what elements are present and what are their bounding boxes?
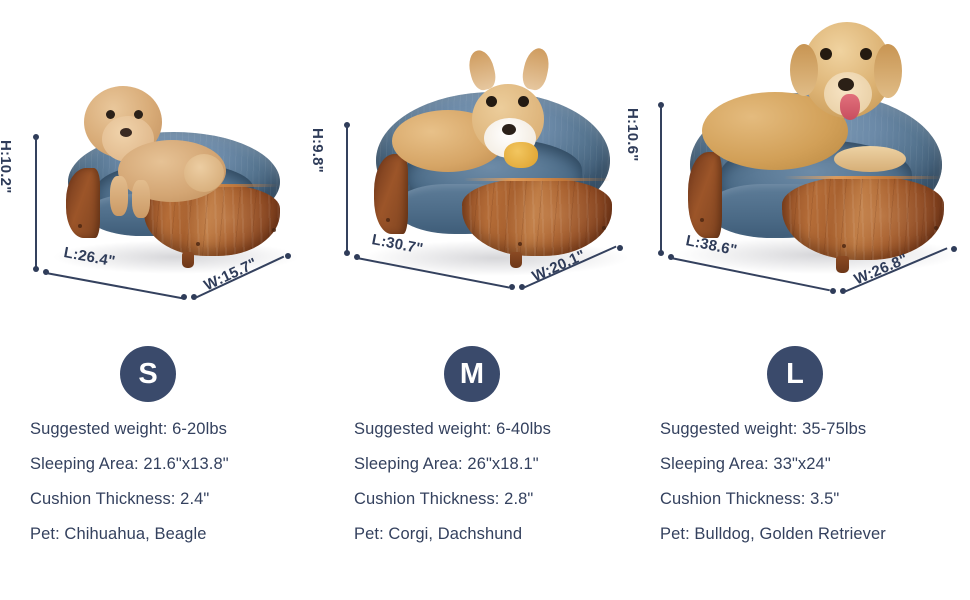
bed-wood-rim-large	[784, 176, 942, 179]
spec-suggested-weight: Suggested weight: 35-75lbs	[660, 420, 886, 439]
dog-nose	[120, 128, 132, 137]
spec-list-large: Suggested weight: 35-75lbs Sleeping Area…	[660, 420, 886, 544]
dog-nose	[502, 124, 516, 135]
spec-suggested-weight: Suggested weight: 6-20lbs	[30, 420, 229, 439]
height-dimension-label-small: H:10.2"	[0, 140, 14, 194]
dog-hindquarters	[184, 154, 224, 192]
bed-wood-side-small	[66, 168, 100, 238]
dog-eye	[106, 110, 115, 119]
dim-endpoint-dot	[33, 266, 39, 272]
dim-endpoint-dot	[509, 284, 515, 290]
height-dimension-label-large: H:10.6"	[624, 108, 641, 162]
bed-wood-side-medium	[374, 154, 408, 234]
dog-ear	[874, 44, 902, 98]
dog-toy	[504, 142, 538, 168]
dim-endpoint-dot	[285, 253, 291, 259]
dog-eye	[518, 96, 529, 107]
size-badge-medium[interactable]: M	[444, 346, 500, 402]
dog-ear	[520, 46, 552, 92]
spec-pet: Pet: Corgi, Dachshund	[354, 525, 551, 544]
height-dimension-line-small	[35, 137, 37, 269]
bed-screw	[272, 228, 276, 232]
spec-sleeping-area: Sleeping Area: 33"x24"	[660, 455, 886, 474]
bed-wood-side-large	[688, 152, 722, 238]
height-dimension-line-large	[660, 105, 662, 253]
dog-nose	[838, 78, 854, 91]
size-badge-label: L	[786, 358, 804, 391]
dog-ear	[790, 44, 818, 96]
spec-list-small: Suggested weight: 6-20lbs Sleeping Area:…	[30, 420, 229, 544]
length-dimension-line-small	[46, 272, 184, 299]
bed-screw	[602, 226, 606, 230]
infographic-canvas: H:10.2" L:26.4" W:15.7" S Suggested weig…	[0, 0, 970, 600]
dim-endpoint-dot	[181, 294, 187, 300]
dim-endpoint-dot	[344, 250, 350, 256]
size-badge-label: M	[460, 358, 484, 391]
spec-cushion-thickness: Cushion Thickness: 2.4"	[30, 490, 229, 509]
spec-pet: Pet: Bulldog, Golden Retriever	[660, 525, 886, 544]
spec-suggested-weight: Suggested weight: 6-40lbs	[354, 420, 551, 439]
bed-leg	[510, 252, 522, 268]
bed-screw	[518, 242, 522, 246]
dog-eye	[134, 110, 143, 119]
dog-eye	[486, 96, 497, 107]
bed-screw	[842, 244, 846, 248]
height-dimension-label-medium: H:9.8"	[309, 128, 326, 173]
spec-pet: Pet: Chihuahua, Beagle	[30, 525, 229, 544]
dog-front-paws	[834, 146, 906, 172]
size-badge-label: S	[138, 358, 157, 391]
dog-tongue	[840, 94, 860, 120]
bed-screw	[934, 226, 938, 230]
dim-endpoint-dot	[951, 246, 957, 252]
pet-bed-small	[58, 132, 288, 262]
spec-cushion-thickness: Cushion Thickness: 2.8"	[354, 490, 551, 509]
dim-endpoint-dot	[658, 250, 664, 256]
dim-endpoint-dot	[617, 245, 623, 251]
bed-screw	[700, 218, 704, 222]
bed-screw	[78, 224, 82, 228]
bed-screw	[196, 242, 200, 246]
spec-cushion-thickness: Cushion Thickness: 3.5"	[660, 490, 886, 509]
height-dimension-line-medium	[346, 125, 348, 253]
size-badge-small[interactable]: S	[120, 346, 176, 402]
size-badge-large[interactable]: L	[767, 346, 823, 402]
dim-endpoint-dot	[830, 288, 836, 294]
bed-wood-rim-medium	[464, 178, 610, 181]
bed-leg	[182, 252, 194, 268]
dog-front-leg	[110, 176, 128, 216]
dog-eye	[860, 48, 872, 60]
dog-eye	[820, 48, 832, 60]
bed-screw	[386, 218, 390, 222]
spec-sleeping-area: Sleeping Area: 26"x18.1"	[354, 455, 551, 474]
spec-list-medium: Suggested weight: 6-40lbs Sleeping Area:…	[354, 420, 551, 544]
bed-leg	[836, 256, 849, 273]
spec-sleeping-area: Sleeping Area: 21.6"x13.8"	[30, 455, 229, 474]
dog-front-leg	[132, 180, 150, 218]
